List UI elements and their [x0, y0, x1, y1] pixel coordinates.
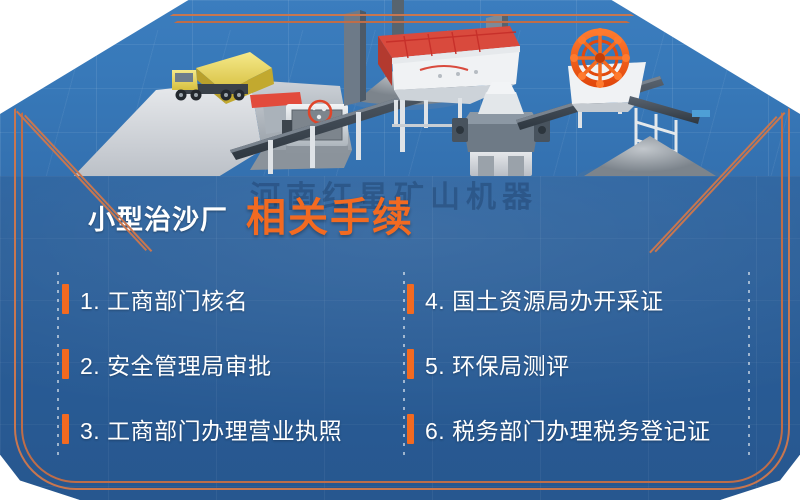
list-item[interactable]: 2. 安全管理局审批	[58, 331, 403, 396]
list-item[interactable]: 1. 工商部门核名	[58, 266, 403, 331]
list-item-label: 4. 国土资源局办开采证	[425, 282, 664, 316]
bullet-icon	[407, 414, 414, 444]
list-item[interactable]: 5. 环保局测评	[403, 331, 748, 396]
infographic-banner: 河南红星矿山机器 小型治沙厂 相关手续 1. 工商部门核名 2. 安全管理局审批…	[0, 0, 800, 500]
list-item[interactable]: 6. 税务部门办理税务登记证	[403, 397, 748, 462]
list-item-label: 6. 税务部门办理税务登记证	[425, 412, 711, 446]
list-item-label: 1. 工商部门核名	[80, 282, 248, 316]
bullet-icon	[407, 349, 414, 379]
list-item[interactable]: 3. 工商部门办理营业执照	[58, 397, 403, 462]
list-item[interactable]: 4. 国土资源局办开采证	[403, 266, 748, 331]
bullet-icon	[62, 284, 69, 314]
procedure-list: 1. 工商部门核名 2. 安全管理局审批 3. 工商部门办理营业执照 4. 国土…	[58, 266, 748, 462]
bullet-icon	[62, 414, 69, 444]
production-line-illustration	[0, 0, 800, 200]
headline-row: 小型治沙厂 相关手续	[88, 198, 414, 238]
headline-subject: 小型治沙厂	[88, 207, 228, 238]
list-item-label: 5. 环保局测评	[425, 347, 570, 381]
bullet-icon	[62, 349, 69, 379]
bullet-icon	[407, 284, 414, 314]
list-item-label: 3. 工商部门办理营业执照	[80, 412, 342, 446]
headline-main: 相关手续	[246, 198, 414, 238]
list-item-label: 2. 安全管理局审批	[80, 347, 272, 381]
